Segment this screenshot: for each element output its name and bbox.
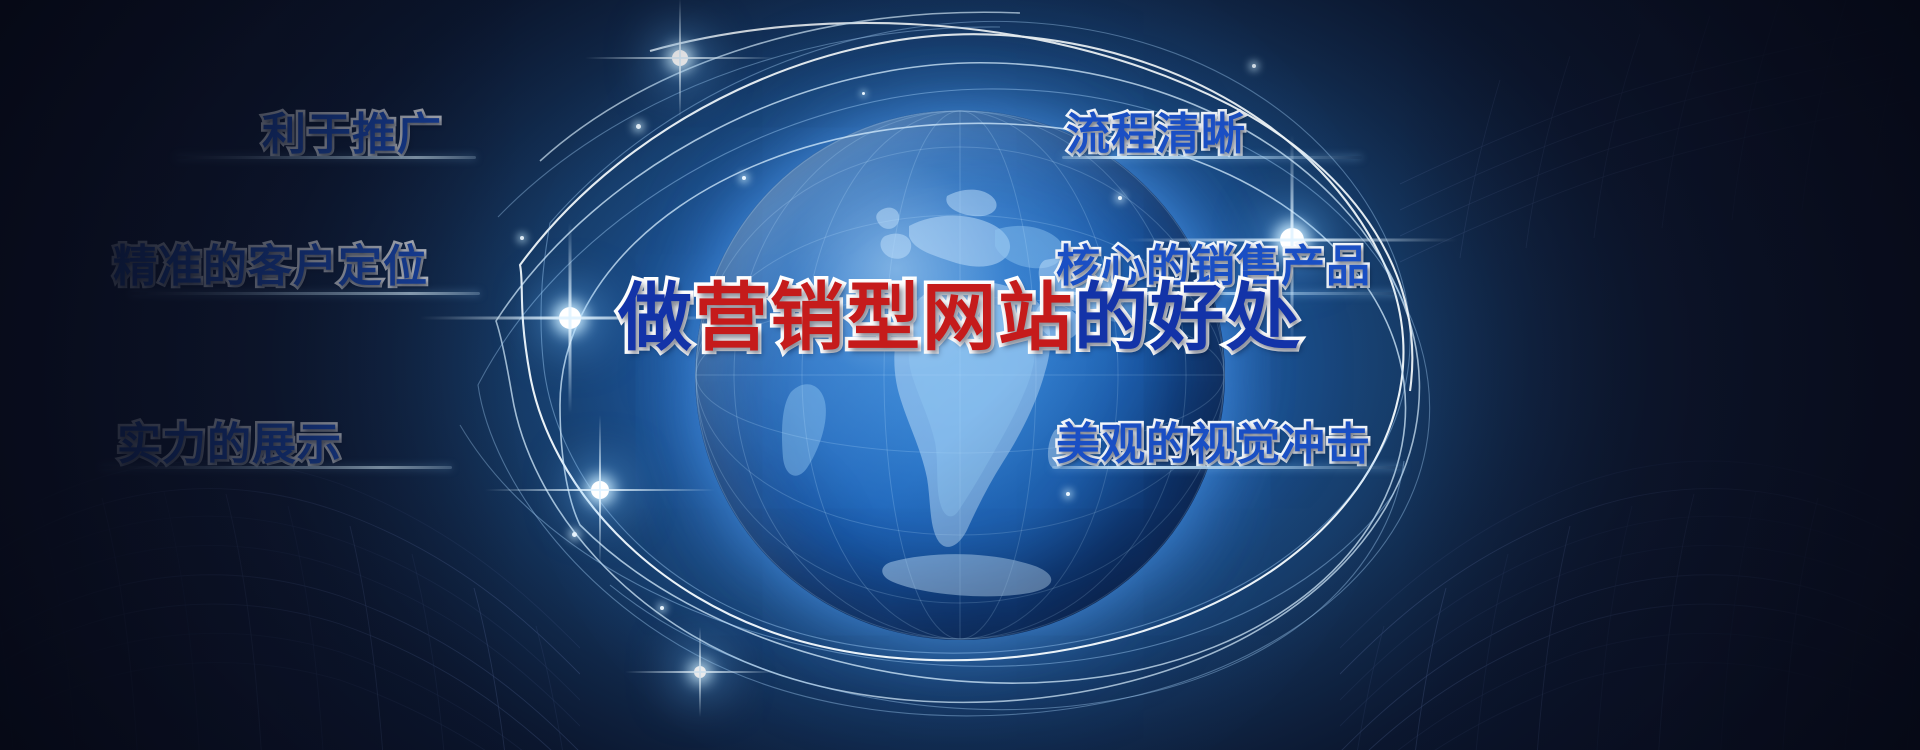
globe-grid-icon — [695, 110, 1225, 640]
headline-part-2: 营销型网站 — [694, 276, 1074, 359]
feature-label-left-1: 利于推广 — [262, 98, 442, 162]
feature-divider-right-3 — [1052, 466, 1404, 469]
feature-label-right-1: 流程清晰 — [1066, 98, 1246, 162]
wireframe-mesh-right-icon — [1340, 370, 1920, 750]
feature-divider-left-3 — [100, 466, 452, 469]
spark — [636, 124, 641, 129]
feature-divider-left-2 — [130, 292, 480, 295]
marketing-banner: 利于推广 精准的客户定位 实力的展示 流程清晰 核心的销售产品 美观的视觉冲击 … — [0, 0, 1920, 750]
feature-divider-left-1 — [176, 156, 476, 159]
banner-headline: 做营销型网站的好处 — [618, 281, 1302, 355]
headline-part-1: 做 — [618, 276, 694, 359]
right-edge-shade — [1400, 0, 1920, 750]
feature-divider-right-1 — [1062, 156, 1362, 159]
feature-label-left-2: 精准的客户定位 — [113, 230, 428, 294]
globe-sphere — [695, 110, 1225, 640]
feature-label-right-3: 美观的视觉冲击 — [1056, 408, 1371, 472]
feature-label-left-3: 实力的展示 — [117, 408, 342, 472]
headline-part-3: 的好处 — [1074, 276, 1302, 359]
spark — [520, 236, 524, 240]
spark — [572, 532, 577, 537]
left-edge-shade — [0, 0, 520, 750]
wireframe-mesh-top-right-icon — [1400, 0, 1920, 270]
